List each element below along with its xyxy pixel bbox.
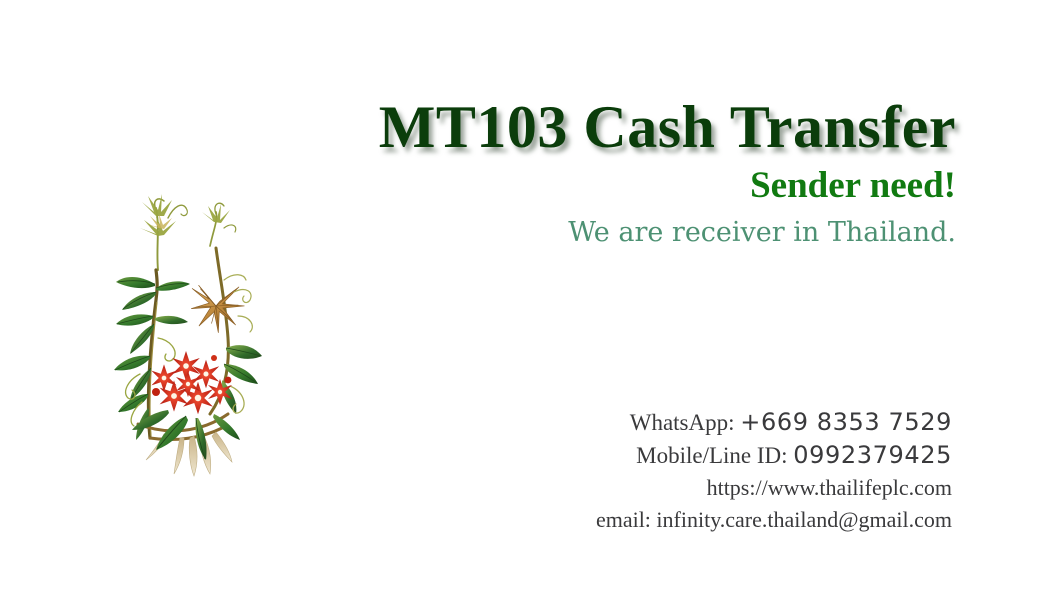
page-title: MT103 Cash Transfer: [280, 96, 956, 158]
email-address[interactable]: infinity.care.thailand@gmail.com: [656, 507, 952, 532]
contact-line-mobile: Mobile/Line ID: 0992379425: [452, 439, 952, 472]
contact-block: WhatsApp: +669 8353 7529 Mobile/Line ID:…: [452, 406, 952, 536]
contact-line-whatsapp: WhatsApp: +669 8353 7529: [452, 406, 952, 439]
email-label: email:: [596, 507, 651, 532]
contact-line-website: https://www.thailifeplc.com: [452, 472, 952, 504]
page-subtitle: Sender need!: [280, 164, 956, 208]
whatsapp-label: WhatsApp:: [630, 410, 735, 435]
website-url[interactable]: https://www.thailifeplc.com: [707, 475, 952, 500]
heading-block: MT103 Cash Transfer Sender need! We are …: [280, 96, 956, 250]
botanical-floral-illustration: [98, 188, 273, 483]
mobile-line-id-label: Mobile/Line ID:: [636, 443, 787, 468]
page-tagline: We are receiver in Thailand.: [280, 216, 956, 250]
mobile-line-id-number[interactable]: 0992379425: [793, 441, 952, 469]
whatsapp-number[interactable]: +669 8353 7529: [740, 408, 952, 436]
business-card-canvas: MT103 Cash Transfer Sender need! We are …: [0, 0, 1063, 600]
contact-line-email: email: infinity.care.thailand@gmail.com: [452, 504, 952, 536]
